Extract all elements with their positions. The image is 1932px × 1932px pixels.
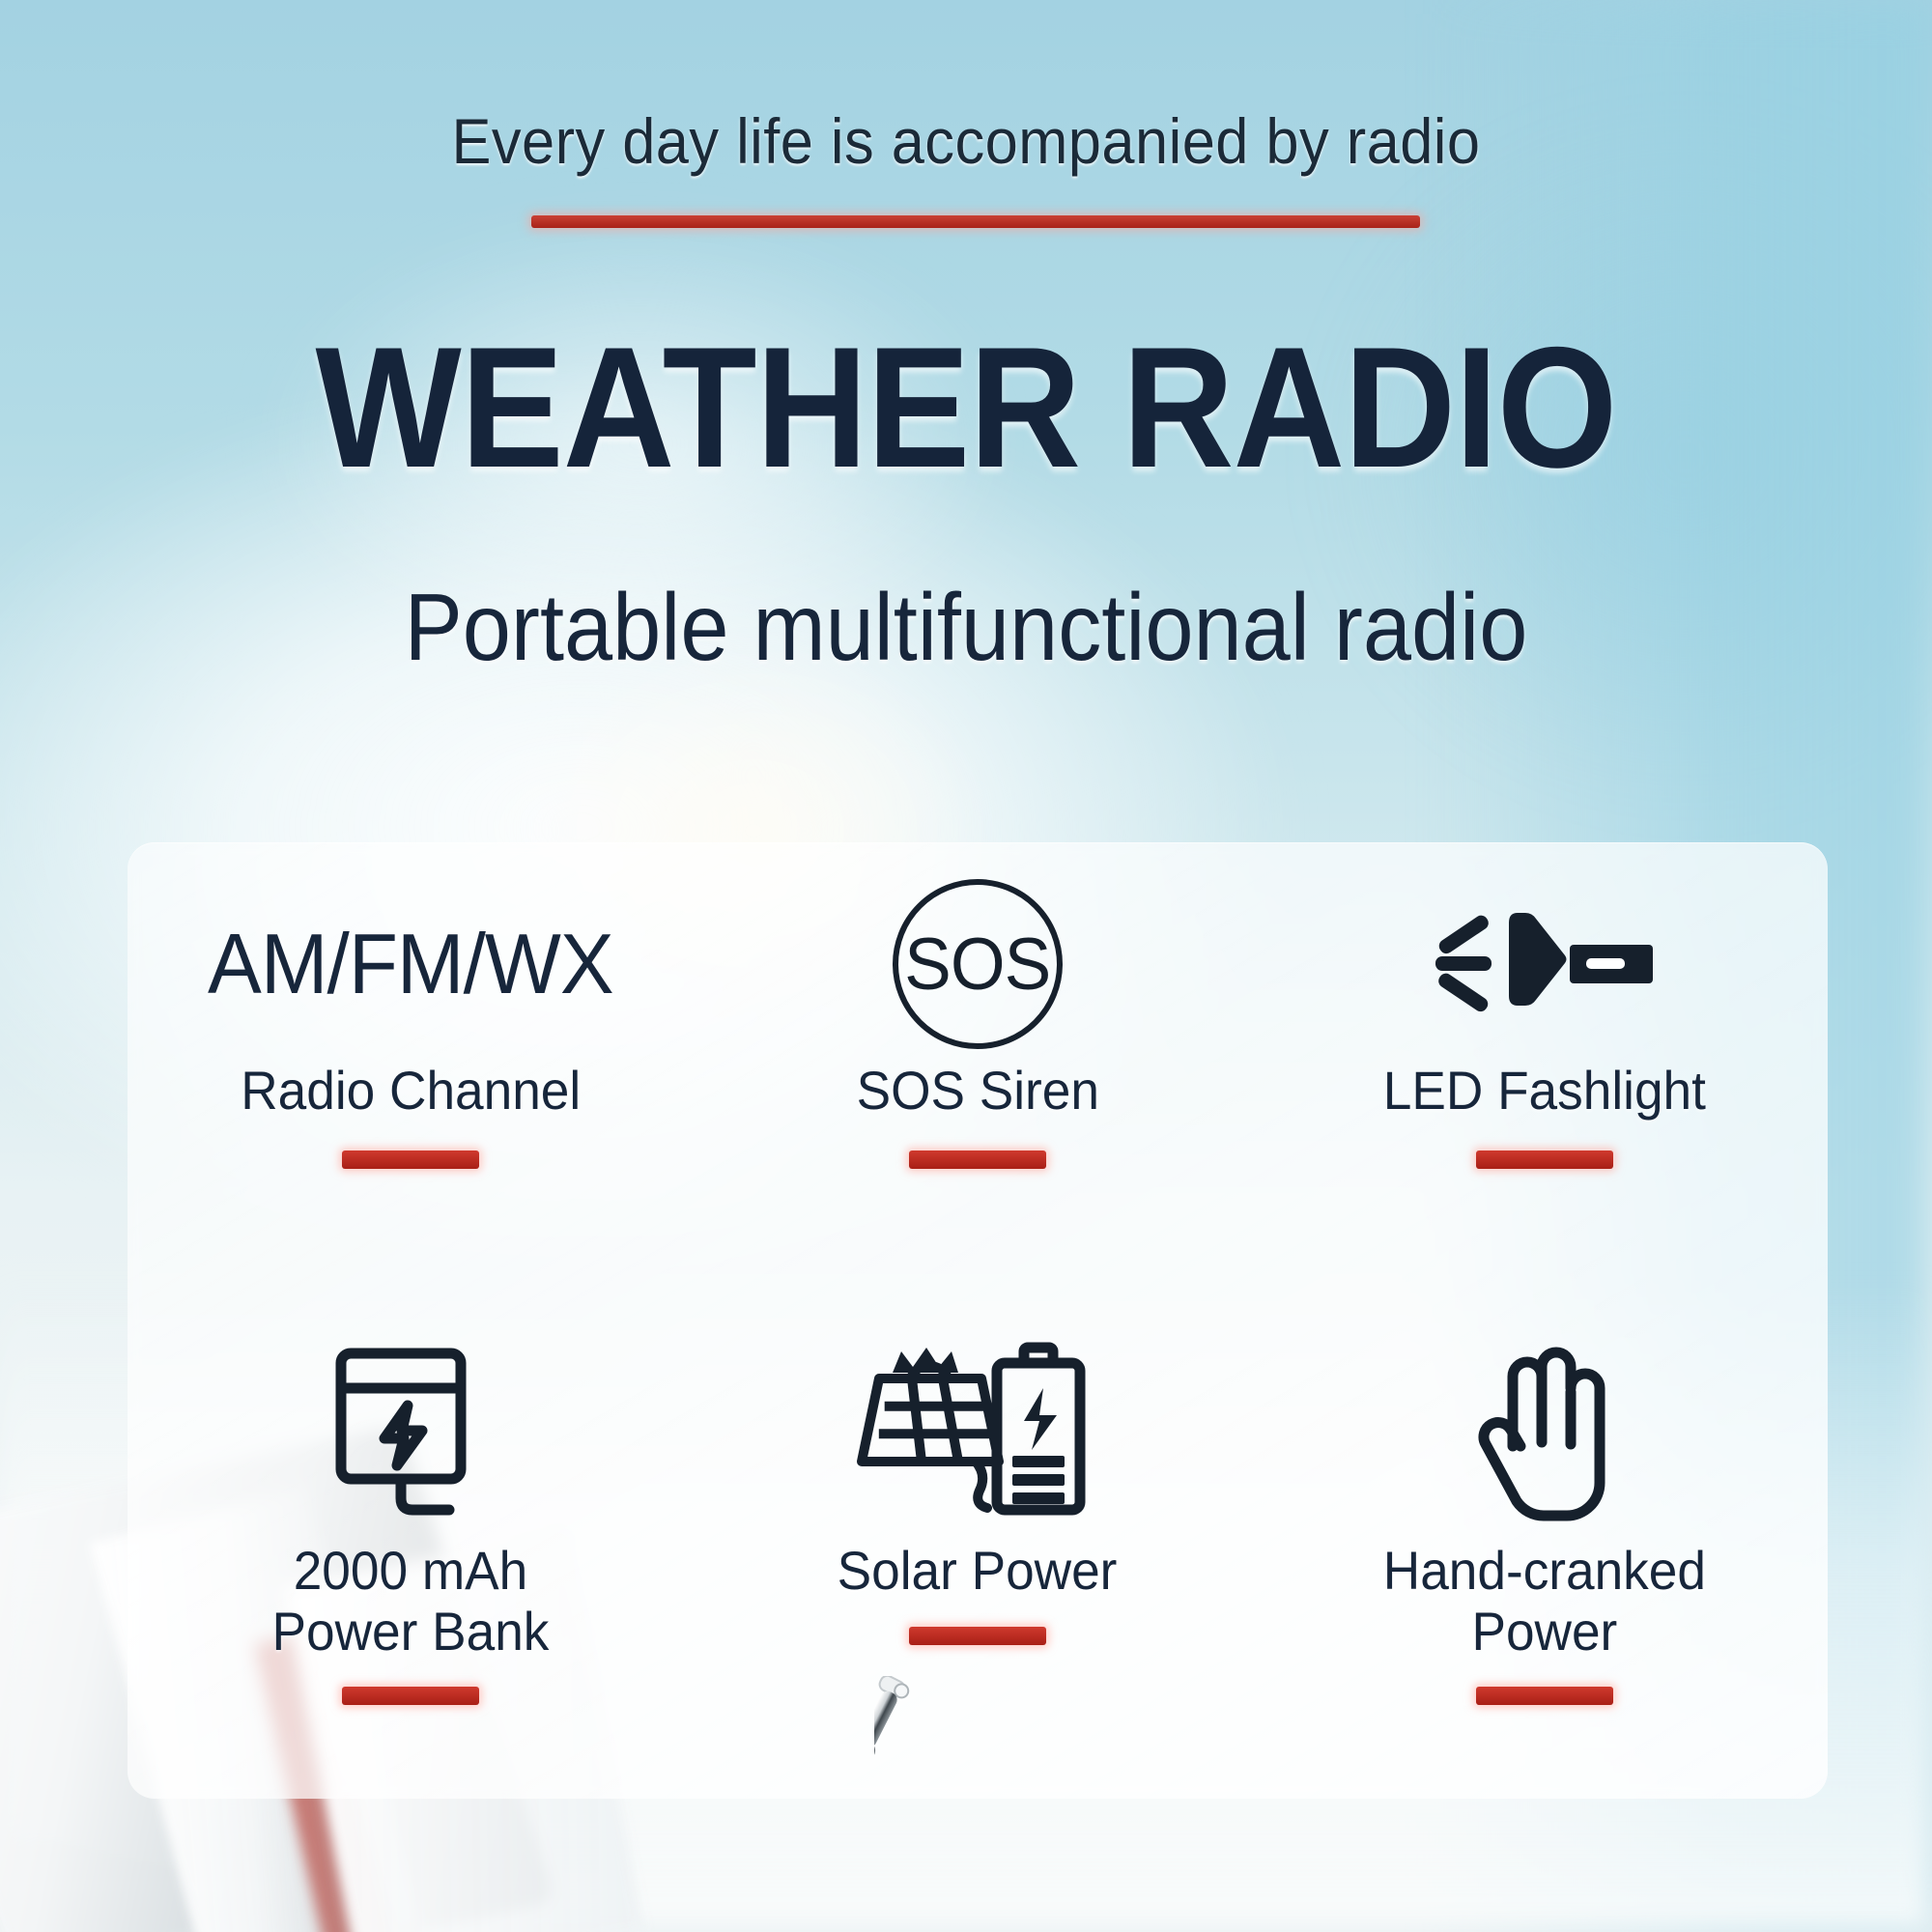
telescoping-antenna [874, 1676, 1183, 1932]
power-bank-icon-svg [314, 1338, 507, 1531]
feature-label-solar-power: Solar Power [838, 1541, 1118, 1602]
accent-bar [1476, 1151, 1613, 1169]
feature-item-led-flashlight[interactable]: LED Fashlight [1261, 842, 1828, 1321]
accent-bar [342, 1151, 479, 1169]
accent-bar [909, 1627, 1046, 1645]
feature-label-led-flashlight: LED Fashlight [1383, 1061, 1706, 1122]
flashlight-icon [1434, 867, 1656, 1061]
accent-bar [909, 1151, 1046, 1169]
solar-panel-battery-icon [852, 1328, 1103, 1541]
feature-grid: AM/FM/WX Radio Channel SOS SOS Siren [128, 842, 1828, 1799]
feature-label-power-bank: 2000 mAh Power Bank [272, 1541, 550, 1662]
accent-bar [342, 1687, 479, 1705]
feature-label-sos-siren: SOS Siren [856, 1061, 1098, 1122]
feature-item-hand-cranked-power[interactable]: Hand-cranked Power [1261, 1321, 1828, 1799]
am-fm-wx-label: AM/FM/WX [209, 915, 614, 1013]
tagline: Every day life is accompanied by radio [68, 104, 1864, 178]
solar-panel-battery-icon-svg [852, 1338, 1103, 1531]
open-hand-icon-svg [1453, 1338, 1636, 1531]
feature-label-radio-channel: Radio Channel [241, 1061, 581, 1122]
feature-item-radio-channel[interactable]: AM/FM/WX Radio Channel [128, 842, 695, 1321]
sos-circle-icon: SOS [893, 867, 1063, 1061]
tagline-underline-bar [531, 215, 1420, 228]
page-subtitle: Portable multifunctional radio [77, 573, 1855, 682]
sos-text: SOS [904, 923, 1050, 1007]
open-hand-icon [1453, 1328, 1636, 1541]
feature-card: AM/FM/WX Radio Channel SOS SOS Siren [128, 842, 1828, 1799]
feature-label-hand-cranked-power: Hand-cranked Power [1383, 1541, 1706, 1662]
feature-item-power-bank[interactable]: 2000 mAh Power Bank [128, 1321, 695, 1799]
power-bank-icon [314, 1328, 507, 1541]
flashlight-icon-svg [1434, 892, 1656, 1037]
am-fm-wx-text-icon: AM/FM/WX [197, 867, 624, 1061]
accent-bar [1476, 1687, 1613, 1705]
feature-item-sos-siren[interactable]: SOS SOS Siren [695, 842, 1262, 1321]
page-title: WEATHER RADIO [97, 322, 1835, 494]
sos-circle-outline: SOS [893, 879, 1063, 1049]
